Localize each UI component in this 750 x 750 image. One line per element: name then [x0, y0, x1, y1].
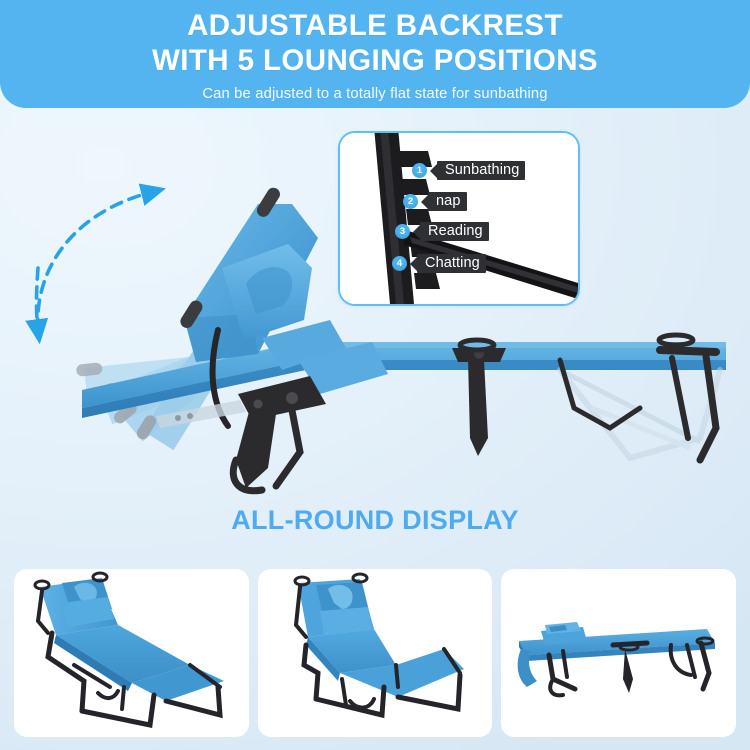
- position-label-3: Reading: [420, 222, 489, 241]
- page-title: ADJUSTABLE BACKREST WITH 5 LOUNGING POSI…: [0, 0, 750, 79]
- lounger-photo-side-reclined: [258, 569, 493, 737]
- header-banner: ADJUSTABLE BACKREST WITH 5 LOUNGING POSI…: [0, 0, 750, 108]
- position-badge-2: 2: [403, 194, 418, 209]
- title-line-1: ADJUSTABLE BACKREST: [187, 9, 563, 42]
- position-label-2: nap: [428, 192, 467, 211]
- position-label-1: Sunbathing: [437, 161, 525, 180]
- lounging-positions-callout: 1 Sunbathing 2 nap 3 Reading 4 Chatting: [338, 131, 580, 306]
- lounger-photo-flat-profile: [501, 569, 736, 737]
- lounger-photo-angled-front: [14, 569, 249, 737]
- title-line-2: WITH 5 LOUNGING POSITIONS: [0, 44, 750, 79]
- position-label-list: 1 Sunbathing 2 nap 3 Reading 4 Chatting: [340, 133, 578, 304]
- gallery-card-three-quarter-view: [14, 569, 249, 737]
- position-row-3: 3 Reading: [395, 222, 489, 241]
- gallery-cards: [14, 569, 736, 737]
- position-row-2: 2 nap: [403, 192, 467, 211]
- rotation-arrow-icon: [37, 192, 153, 330]
- position-badge-1: 1: [412, 163, 427, 178]
- page-subtitle: Can be adjusted to a totally flat state …: [0, 86, 750, 102]
- section-title: ALL-ROUND DISPLAY: [0, 505, 750, 536]
- position-label-4: Chatting: [417, 254, 486, 273]
- position-row-1: 1 Sunbathing: [412, 161, 525, 180]
- gallery-card-flat-side-view: [501, 569, 736, 737]
- position-badge-3: 3: [395, 224, 410, 239]
- position-row-4: 4 Chatting: [392, 254, 486, 273]
- position-badge-4: 4: [392, 256, 407, 271]
- gallery-card-side-reclined-view: [258, 569, 493, 737]
